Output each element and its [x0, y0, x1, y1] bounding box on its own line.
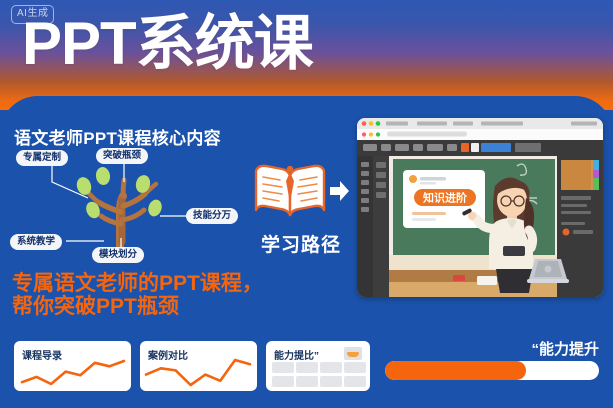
knowledge-tree-diagram: 专属定制 突破瓶颈 技能分万 系统教学 模块划分	[8, 146, 243, 266]
ability-grid-cell	[272, 376, 294, 387]
progress-bar-track[interactable]	[385, 361, 599, 380]
headline-line-2: 帮你突破PPT瓶颈	[12, 295, 263, 318]
promo-headline: 专属语文老师的PPT课程， 帮你突破PPT瓶颈	[12, 272, 263, 318]
page-title: PPT系统课	[22, 8, 313, 80]
traffic-light-zoom	[376, 121, 381, 126]
design-app-window: 知识进阶	[357, 118, 603, 297]
ability-grid-cell	[272, 362, 294, 373]
case-compare-sparkline	[140, 341, 257, 391]
card-course-list[interactable]: 课程导录	[14, 341, 131, 391]
tree-tag-skills[interactable]: 技能分万	[186, 208, 238, 224]
ability-grid-cell	[296, 376, 318, 387]
tree-tag-systematic[interactable]: 系统教学	[10, 234, 62, 250]
app-screenshot-mockup: 知识进阶	[357, 118, 603, 297]
thumbnail-icon	[344, 347, 362, 360]
ability-grid-cell	[320, 362, 342, 373]
learning-path-caption: 学习路径	[246, 230, 356, 257]
ability-grid-cell	[344, 376, 366, 387]
tree-tag-breakthrough[interactable]: 突破瓶颈	[96, 148, 148, 164]
poster-root: AI生成 PPT系统课 语文老师PPT课程核心内容	[0, 0, 613, 408]
tree-tag-modules[interactable]: 模块划分	[92, 247, 144, 263]
tree-tag-custom[interactable]: 专属定制	[16, 150, 68, 166]
card-ability-compare-label: 能力提比”	[274, 347, 319, 362]
traffic-light-close	[362, 121, 367, 126]
ability-grid-cell	[344, 362, 366, 373]
progress-bar-fill	[385, 361, 526, 380]
open-book-icon	[248, 155, 353, 235]
slide-badge-text: 知识进阶	[422, 191, 468, 205]
headline-line-1: 专属语文老师的PPT课程，	[12, 272, 263, 295]
course-list-sparkline	[14, 341, 131, 391]
card-ability-compare[interactable]: 能力提比”	[266, 341, 370, 391]
ability-grid-cell	[296, 362, 318, 373]
card-case-compare[interactable]: 案例对比	[140, 341, 257, 391]
traffic-light-minimize	[369, 121, 374, 126]
progress-label: “能力提升	[531, 338, 599, 359]
ability-grid-cell	[320, 376, 342, 387]
